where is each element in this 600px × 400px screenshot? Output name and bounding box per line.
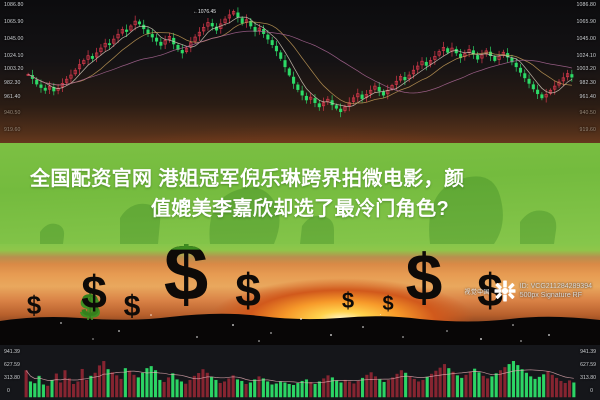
price-axis-right-tick: 982.30 [580, 80, 596, 86]
sparkle-dot [232, 324, 234, 326]
vcg-brand-label: 视觉中国 [465, 287, 490, 296]
title-band: 全国配资官网 港姐冠军倪乐琳跨界拍微电影，颜 值媲美李嘉欣却选了最冷门角色? [0, 143, 600, 244]
page-title-line-1: 全国配资官网 港姐冠军倪乐琳跨界拍微电影，颜 [18, 164, 464, 194]
price-chart-canvas [0, 0, 600, 145]
price-axis-left-tick: 1045.00 [4, 36, 23, 42]
volume-axis-left-tick: 627.59 [4, 362, 20, 368]
volume-axis-left-tick: 941.39 [4, 349, 20, 355]
price-axis-left-tick: 1003.20 [4, 66, 23, 72]
cover-image: 1086.80 1065.90 1045.00 1024.10 1003.20 … [0, 0, 600, 400]
price-axis-left-tick: 1086.80 [4, 2, 23, 8]
page-title-line-2: 值媲美李嘉欣却选了最冷门角色? [151, 194, 449, 224]
sparkle-dot [118, 330, 120, 332]
volume-axis-right-tick: 0 [590, 388, 593, 394]
price-axis-left-tick: 982.30 [4, 80, 20, 86]
volume-axis-right-tick: 627.59 [580, 362, 596, 368]
sparkle-dot [446, 330, 448, 332]
price-axis-left-tick: 940.50 [4, 110, 20, 116]
price-axis-right-tick: 1045.00 [577, 36, 596, 42]
page-title: 全国配资官网 港姐冠军倪乐琳跨界拍微电影，颜 值媲美李嘉欣却选了最冷门角色? [0, 143, 600, 244]
price-chart-panel: 1086.80 1065.90 1045.00 1024.10 1003.20 … [0, 0, 600, 145]
volume-axis-left-tick: 313.80 [4, 375, 20, 381]
volume-axis-left-tick: 0 [7, 388, 10, 394]
price-axis-left-tick: 1065.90 [4, 19, 23, 25]
price-axis-right-tick: 1086.80 [577, 2, 596, 8]
price-axis-left-tick: 919.60 [4, 127, 20, 133]
sparkle-dot [258, 340, 260, 342]
watermark-id-line: ID: VCG211284289394 [520, 282, 592, 291]
sparkle-dot [512, 324, 514, 326]
price-axis-right-tick: 961.40 [580, 94, 596, 100]
price-axis-left-tick: 1024.10 [4, 53, 23, 59]
sparkle-dot [548, 334, 550, 336]
sparkle-dot [300, 318, 302, 320]
price-axis-left-tick: 961.40 [4, 94, 20, 100]
volume-axis-right-tick: 941.39 [580, 349, 596, 355]
price-axis-right-tick: 919.60 [580, 127, 596, 133]
price-peak-annotation: ←1076.45 [193, 9, 216, 15]
volume-chart-panel: 941.39 627.59 313.80 0 941.39 627.59 313… [0, 345, 600, 400]
price-axis-right-tick: 1024.10 [577, 53, 596, 59]
sparkle-dot [150, 314, 152, 316]
volume-axis-right-tick: 313.80 [580, 375, 596, 381]
vcg-star-icon [494, 280, 516, 302]
watermark: 视觉中国 ID: VCG21 [465, 280, 592, 302]
price-axis-right-tick: 940.50 [580, 110, 596, 116]
sparkle-dot [270, 332, 272, 334]
sunset-photo-section: $ [0, 244, 600, 345]
sparkle-dot [362, 326, 364, 328]
watermark-license-line: 500px Signature RF [520, 291, 592, 300]
sparkle-dot [402, 336, 404, 338]
sparkle-dot [520, 340, 522, 342]
price-axis-right-tick: 1003.20 [577, 66, 596, 72]
price-axis-right-tick: 1065.90 [577, 19, 596, 25]
sparkle-dot [92, 338, 94, 340]
volume-chart-canvas [0, 345, 600, 400]
